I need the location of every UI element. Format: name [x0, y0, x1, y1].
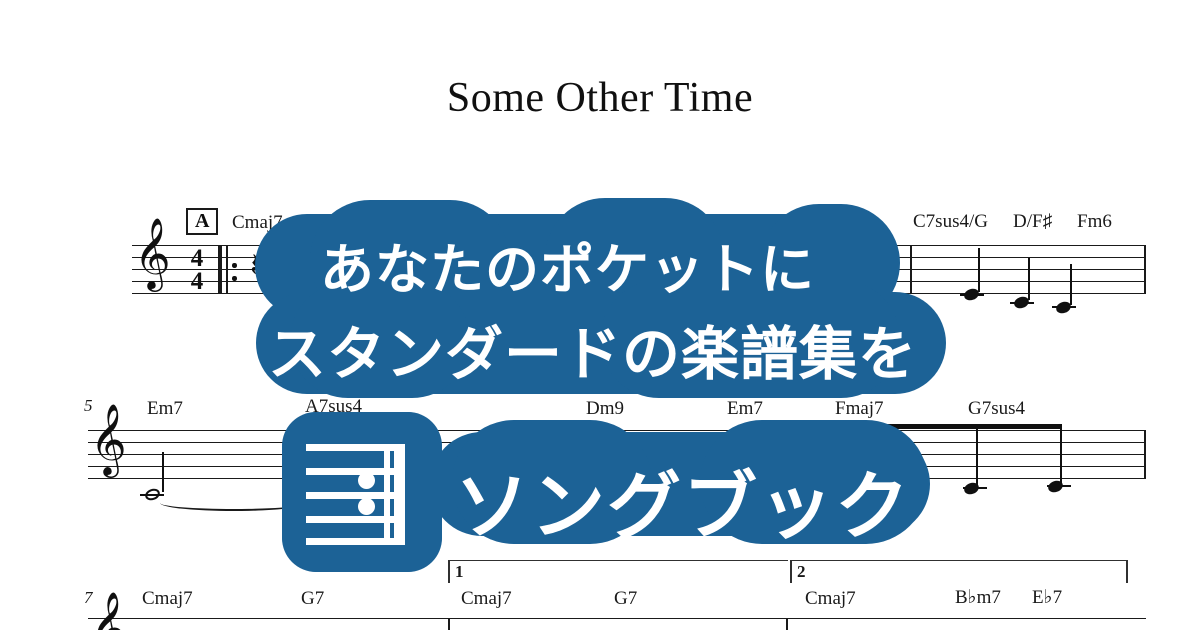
- rehearsal-mark-a: A: [186, 208, 218, 235]
- chord-symbol: G7: [301, 588, 324, 610]
- volta-edge: [448, 561, 450, 583]
- note-stem: [162, 452, 164, 492]
- chord-symbol: Cmaj7: [232, 212, 283, 234]
- volta-label: 2: [797, 562, 806, 582]
- time-signature-denominator: 4: [186, 270, 208, 293]
- chord-symbol: Cmaj7: [142, 588, 193, 610]
- quarter-rest: 𝄽: [250, 248, 260, 281]
- note-stem: [1028, 258, 1030, 300]
- chord-symbol: E♭7: [1032, 586, 1062, 609]
- staff-lines: [88, 618, 1146, 630]
- chord-symbol: Cmaj7: [461, 588, 512, 610]
- logo-barline-thick: [394, 444, 405, 545]
- notehead: [144, 487, 162, 502]
- chord-symbol: Em7: [727, 398, 763, 420]
- headline-line-2: スタンダードの楽譜集を: [268, 307, 917, 391]
- chord-symbol: Fmaj7: [835, 398, 884, 420]
- barline: [786, 618, 788, 630]
- treble-clef-icon: 𝄞: [134, 222, 171, 284]
- chord-symbol: D/F♯: [1013, 211, 1052, 233]
- volta-edge: [790, 561, 792, 583]
- barline: [1144, 430, 1146, 479]
- songbook-staff-logo-icon: [282, 412, 442, 572]
- barline: [448, 618, 450, 630]
- logo-notehead: [358, 498, 375, 515]
- time-signature-numerator: 4: [186, 247, 208, 270]
- barline: [910, 245, 912, 294]
- chord-symbol: G7sus4: [968, 398, 1025, 420]
- note-stem: [978, 248, 980, 292]
- treble-clef-icon: 𝄞: [90, 408, 127, 470]
- chord-symbol: C7sus4/G: [913, 211, 988, 233]
- volta-bracket-2: 2: [790, 560, 1128, 582]
- logo-notehead: [358, 472, 375, 489]
- promo-banner: Some Other Time A Cmaj7 G7sus4 Cmaj7 G7s…: [0, 0, 1200, 630]
- volta-label: 1: [455, 562, 464, 582]
- headline-line-3: ソングブック: [455, 447, 911, 554]
- barline: [226, 245, 228, 294]
- chord-symbol: Fm6: [1077, 211, 1112, 233]
- chord-symbol: G7: [614, 588, 637, 610]
- logo-barline-thin: [384, 444, 390, 545]
- note-stem: [976, 424, 978, 488]
- chord-symbol: Cmaj7: [805, 588, 856, 610]
- chord-symbol: Em7: [147, 398, 183, 420]
- volta-bracket-1: 1: [448, 560, 788, 582]
- barline: [218, 245, 222, 294]
- volta-edge: [1126, 561, 1128, 583]
- staff-glyph: [306, 436, 418, 548]
- note-stem: [1070, 264, 1072, 305]
- song-title: Some Other Time: [0, 74, 1200, 122]
- beam: [840, 424, 1062, 429]
- note-stem: [1060, 424, 1062, 486]
- treble-clef-icon: 𝄞: [90, 596, 127, 630]
- chord-symbol: Dm9: [586, 398, 624, 420]
- chord-symbol: B♭m7: [955, 586, 1001, 609]
- barline: [1144, 245, 1146, 294]
- headline-line-1: あなたのポケットに: [320, 225, 815, 304]
